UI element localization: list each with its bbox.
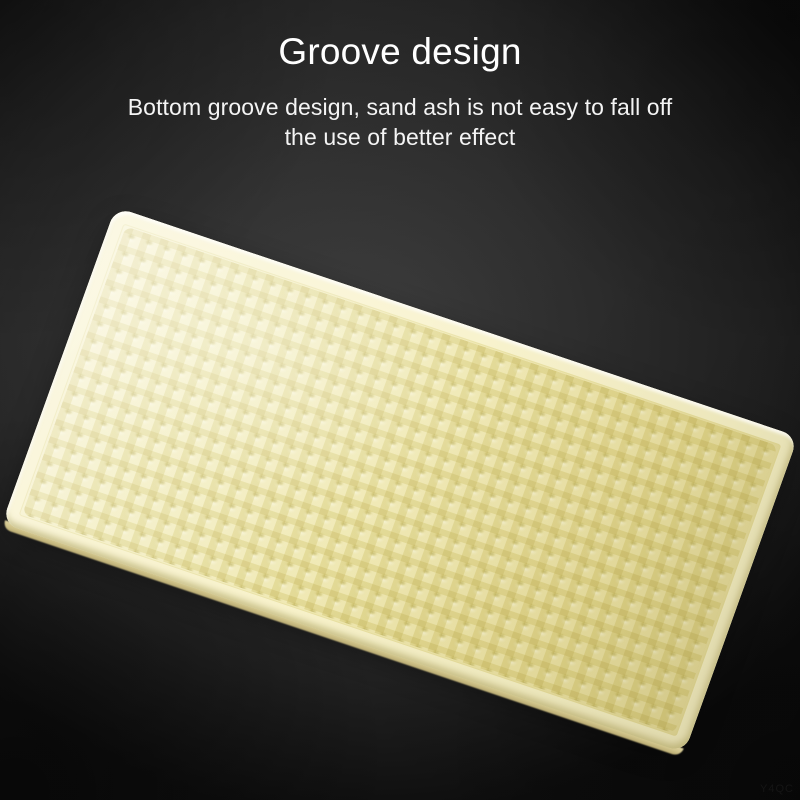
product-marketing-image: Groove design Bottom groove design, sand… xyxy=(0,0,800,800)
subtitle-line-2: the use of better effect xyxy=(0,122,800,152)
subtitle: Bottom groove design, sand ash is not ea… xyxy=(0,92,800,152)
headline-block: Groove design Bottom groove design, sand… xyxy=(0,28,800,152)
watermark: Y4QC xyxy=(760,783,794,795)
subtitle-line-1: Bottom groove design, sand ash is not ea… xyxy=(0,92,800,122)
page-title: Groove design xyxy=(0,28,800,76)
